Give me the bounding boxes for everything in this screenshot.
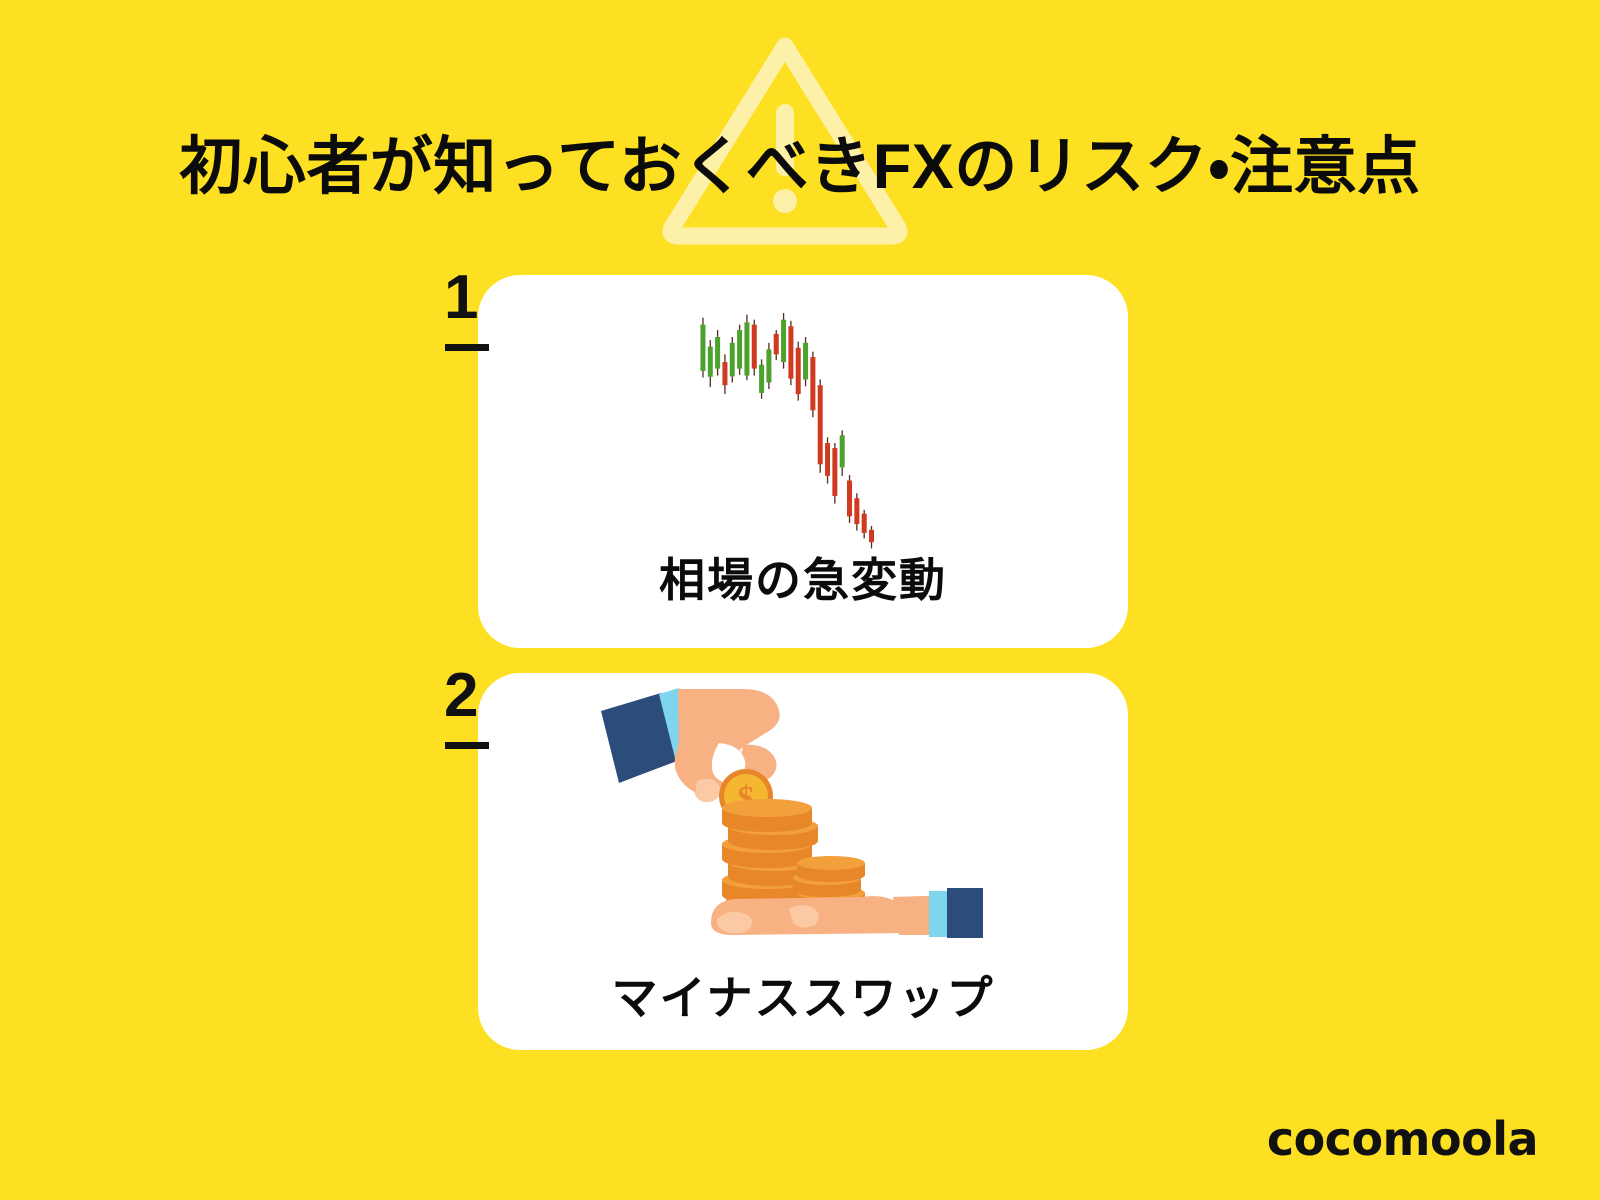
candle-body-down [752,325,757,369]
page-title: 初心者が知っておくべきFXのリスク・注意点 [0,134,1600,200]
candle-body-down [818,385,823,464]
card-1-label: 相場の急変動 [478,544,1128,610]
candle-body-up [730,343,735,377]
candle-body-up [737,330,742,369]
candle-body-up [744,322,749,375]
candle-body-up [766,349,771,382]
candle-body-up [840,435,845,467]
card-1-number: 1 [444,267,478,329]
candlestick-chart-icon [618,283,958,553]
candle-body-down [788,326,793,378]
risk-card-1: 1 相場の急変動 [478,275,1128,648]
candle-body-down [810,357,815,410]
candle-body-down [847,480,852,516]
candle-body-down [832,448,837,496]
card-2-label: マイナススワップ [478,962,1128,1028]
candle-body-up [781,320,786,362]
candle-body-down [862,514,867,533]
hands-exchanging-coins-icon: $ [593,683,983,938]
candle-body-down [854,498,859,524]
risk-card-2: 2 $ [478,673,1128,1050]
card-2-number: 2 [444,665,478,727]
brand-logo: cocomoola [1267,1112,1538,1166]
candle-body-up [700,325,705,371]
candle-body-down [722,362,727,385]
candle-body-down [869,530,874,542]
candle-body-up [715,337,720,369]
candle-body-down [825,443,830,476]
candle-body-down [774,334,779,354]
candle-body-up [803,343,808,380]
candle-body-up [759,365,764,393]
candle-body-up [708,347,713,377]
candle-body-down [796,348,801,394]
